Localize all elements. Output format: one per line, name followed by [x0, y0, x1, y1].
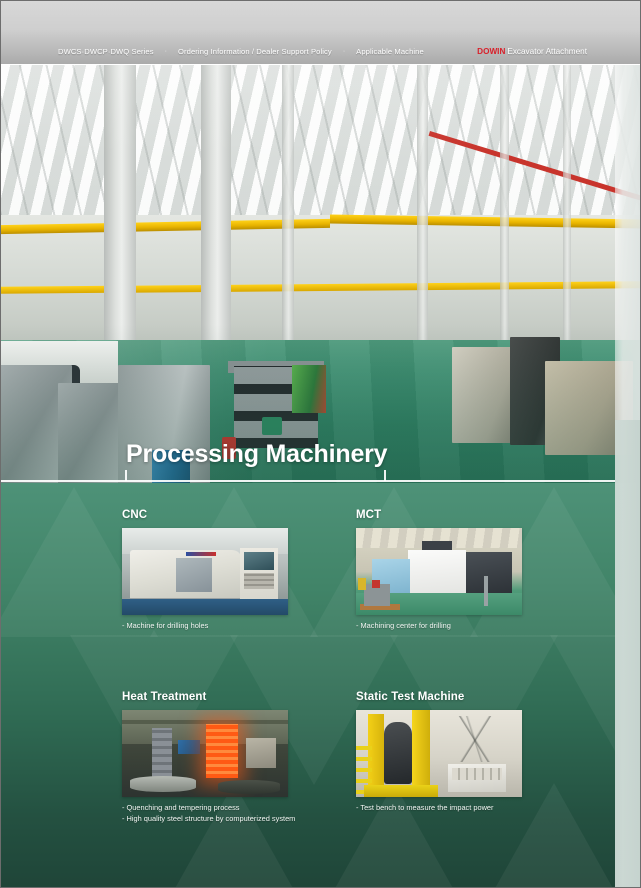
section-static-test-machine: Static Test Machine - Test bench to meas… — [356, 691, 522, 814]
section-title-cnc: CNC — [122, 509, 288, 521]
brand-tagline: Excavator Attachment — [507, 47, 587, 56]
caption-line: - Quenching and tempering process — [122, 803, 295, 814]
caption-line: - Machine for drilling holes — [122, 621, 288, 632]
nav-separator-1: · — [165, 48, 167, 55]
nav-item-series[interactable]: DWCS·DWCP·DWQ Series — [58, 47, 154, 56]
hero-overlay — [0, 65, 641, 483]
section-caption-cnc: - Machine for drilling holes — [122, 621, 288, 632]
caption-line: - Test bench to measure the impact power — [356, 803, 522, 814]
section-heat-treatment: Heat Treatment - Quenching and tempering… — [122, 691, 295, 824]
nav-item-ordering-information[interactable]: Ordering Information / Dealer Support Po… — [178, 47, 332, 56]
section-caption-heat-treatment: - Quenching and tempering process - High… — [122, 803, 295, 824]
page-edge-strip-lower — [615, 420, 641, 888]
brand-lockup: DOWIN Excavator Attachment — [477, 43, 587, 59]
sections-grid: CNC - Machine for drilling holes MCT — [0, 483, 641, 888]
nav-item-applicable-machine[interactable]: Applicable Machine — [356, 47, 424, 56]
header-divider — [0, 64, 641, 66]
hero-factory-photo — [0, 65, 641, 483]
section-image-mct — [356, 528, 522, 615]
brand-name: DOWIN — [477, 47, 505, 56]
title-underline — [0, 480, 615, 482]
section-image-heat-treatment — [122, 710, 288, 797]
section-caption-static-test-machine: - Test bench to measure the impact power — [356, 803, 522, 814]
section-cnc: CNC - Machine for drilling holes — [122, 509, 288, 632]
section-title-mct: MCT — [356, 509, 522, 521]
section-image-static-test-machine — [356, 710, 522, 797]
section-title-static-test-machine: Static Test Machine — [356, 691, 522, 703]
header-band: DWCS·DWCP·DWQ Series · Ordering Informat… — [0, 0, 641, 65]
section-caption-mct: - Machining center for drilling — [356, 621, 522, 632]
nav-separator-2: · — [343, 48, 345, 55]
page-title: Processing Machinery — [126, 440, 387, 469]
caption-line: - Machining center for drilling — [356, 621, 522, 632]
title-tick-right — [384, 470, 386, 481]
caption-line: - High quality steel structure by comput… — [122, 814, 295, 825]
section-image-cnc — [122, 528, 288, 615]
title-tick-left — [125, 470, 127, 481]
brochure-page: DWCS·DWCP·DWQ Series · Ordering Informat… — [0, 0, 641, 888]
section-mct: MCT - Machining center for drilling — [356, 509, 522, 632]
section-title-heat-treatment: Heat Treatment — [122, 691, 295, 703]
